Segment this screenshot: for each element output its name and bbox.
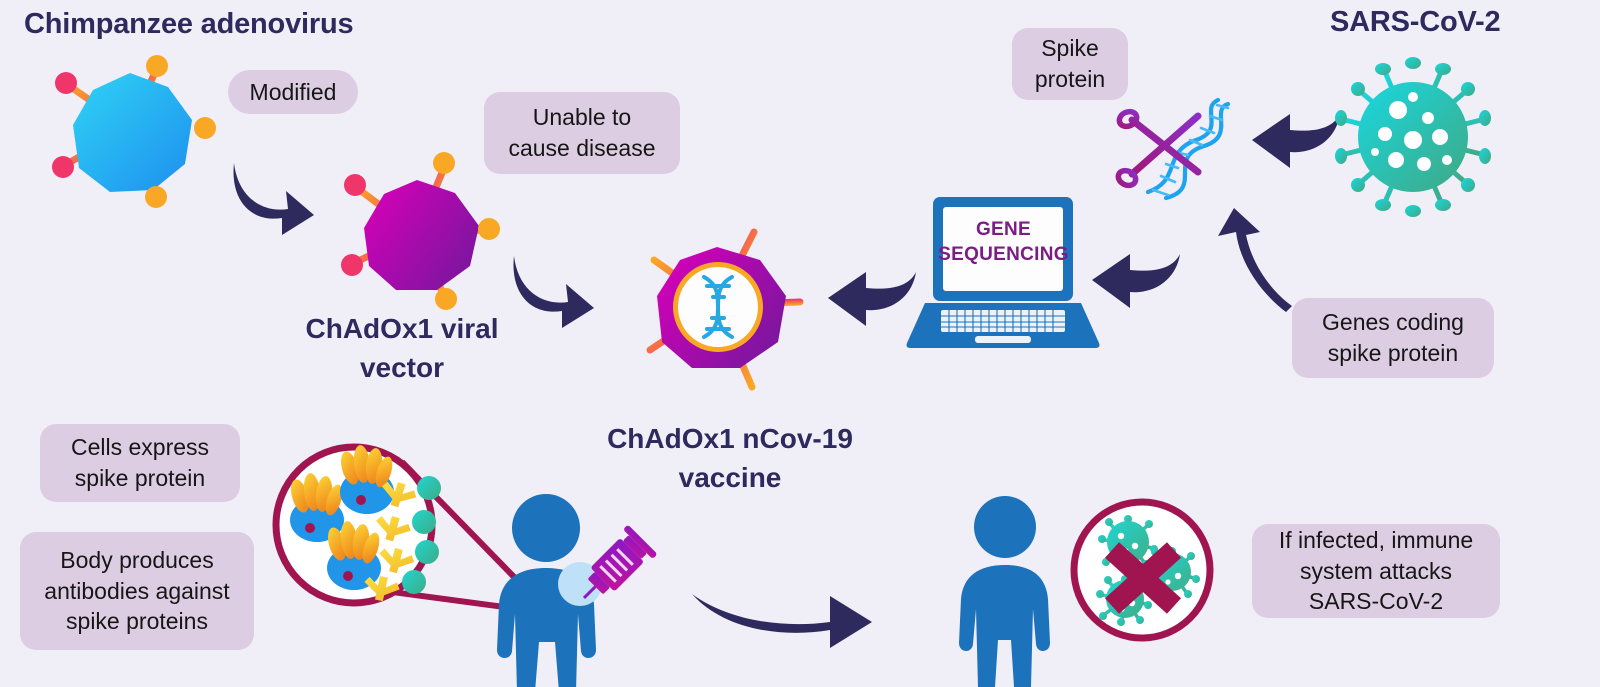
badge-body-produces-antibodies: Body produces antibodies against spike p… [20, 532, 254, 650]
person-protected-icon [955, 495, 1055, 687]
arrow-person-to-immune [690, 578, 875, 650]
badge-if-infected-immune-system-attacks: If infected, immune system attacks SARS-… [1252, 524, 1500, 618]
arrow-dna-to-laptop [1088, 250, 1184, 310]
infographic-canvas: Chimpanzee adenovirus SARS-CoV-2 [0, 0, 1600, 687]
laptop-screen-line2: SEQUENCING [916, 243, 1091, 268]
badge-modified: Modified [228, 70, 358, 114]
laptop-screen-line1: GENE [916, 218, 1091, 243]
arrow-adenovirus-to-vector [228, 155, 318, 230]
syringe-icon [566, 524, 661, 614]
dna-scissors-icon [1118, 96, 1248, 206]
heading-sars-cov-2: SARS-CoV-2 [1330, 6, 1500, 39]
badge-unable-to-cause-disease: Unable to cause disease [484, 92, 680, 174]
heading-chimpanzee-adenovirus: Chimpanzee adenovirus [24, 8, 353, 41]
viral-vector-icon [322, 138, 512, 323]
arrow-vector-to-vaccine [508, 248, 598, 323]
adenovirus-icon [35, 40, 225, 220]
label-chadox1-ncov19-vaccine: ChAdOx1 nCov-19 vaccine [590, 420, 870, 497]
sars-cov-2-icon [1328, 52, 1498, 222]
label-chadox1-viral-vector: ChAdOx1 viral vector [282, 310, 522, 387]
vaccine-particle-icon [612, 202, 822, 407]
badge-cells-express-spike-protein: Cells express spike protein [40, 424, 240, 502]
badge-genes-coding-spike-protein: Genes coding spike protein [1292, 298, 1494, 378]
badge-spike-protein: Spike protein [1012, 28, 1128, 100]
arrow-genes-to-dna [1196, 208, 1296, 318]
virus-blocked-icon [1068, 496, 1216, 644]
